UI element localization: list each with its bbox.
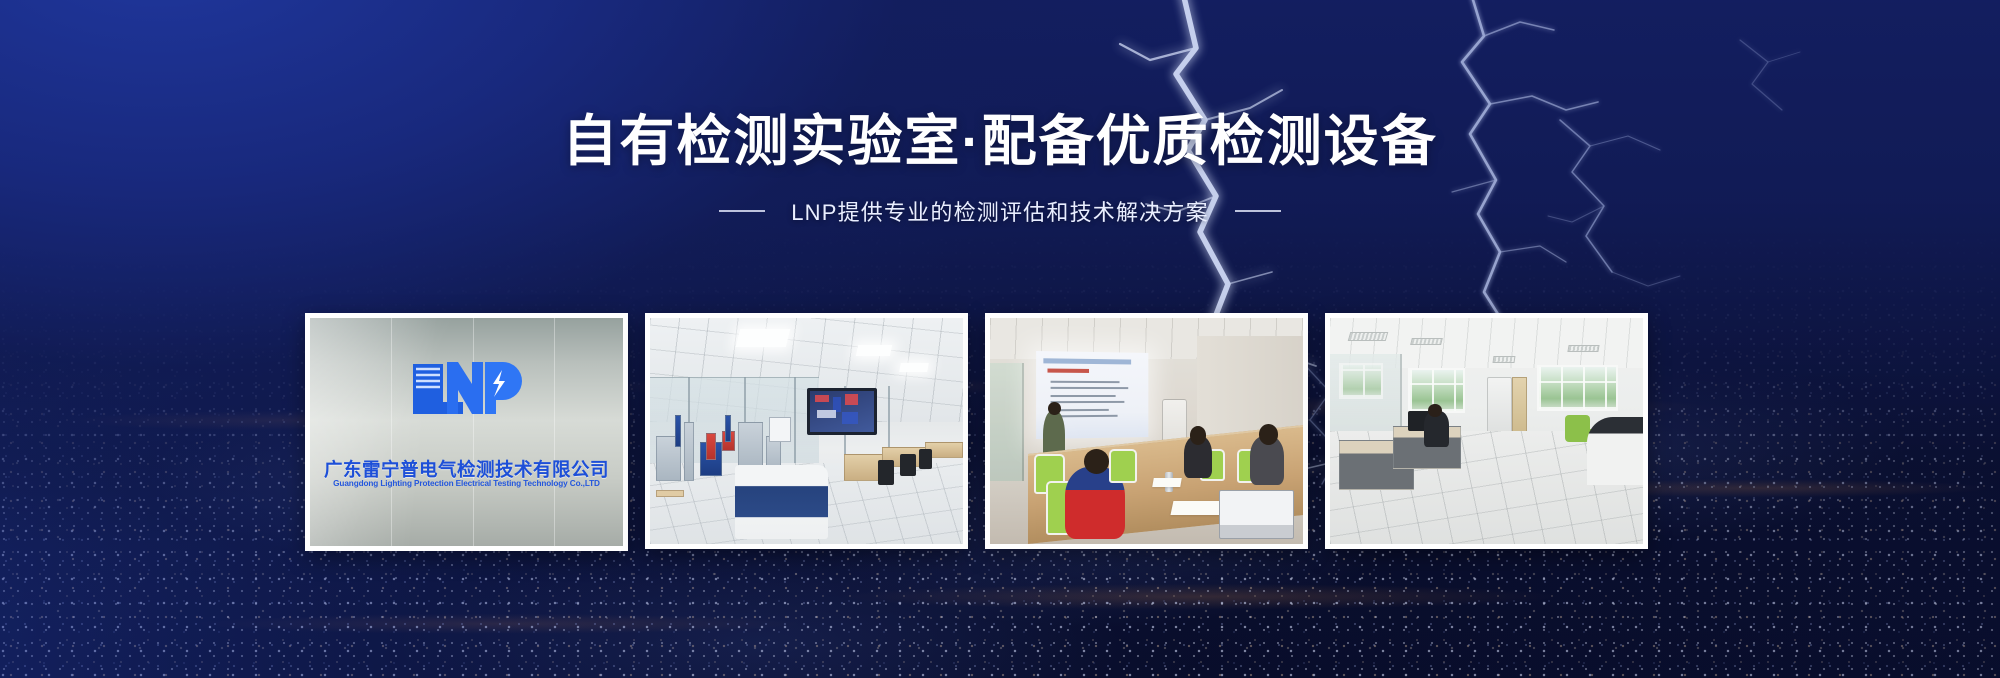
subtitle-row: LNP提供专业的检测评估和技术解决方案 (719, 195, 1281, 227)
attendee-head (1084, 449, 1109, 474)
frosted-glass-door (990, 363, 1024, 481)
sign-company-name-en: Guangdong Lighting Protection Electrical… (333, 479, 600, 488)
attendee-head (1259, 424, 1278, 444)
reception-counter (1587, 417, 1643, 485)
photo-meeting-room (990, 318, 1303, 544)
office-window (1339, 363, 1383, 399)
ceiling-vent (1347, 332, 1387, 341)
meeting-chair (1109, 449, 1137, 483)
gallery-item-meeting-room[interactable] (985, 313, 1308, 549)
laptop (1219, 490, 1294, 540)
photo-office-area (1330, 318, 1643, 544)
photo-company-signage: 广东雷宁普电气检测技术有限公司 Guangdong Lighting Prote… (310, 318, 623, 546)
test-rig (675, 415, 681, 447)
ceiling-vent (1567, 345, 1599, 352)
page-title: 自有检测实验室·配备优质检测设备 (562, 112, 1437, 171)
office-chair (878, 460, 894, 485)
attendee-head (1190, 426, 1206, 444)
office-chair (919, 449, 932, 469)
glass-seam (554, 318, 555, 546)
presenter-head (1048, 402, 1061, 416)
rule-right-icon (1235, 210, 1281, 212)
console-screen (769, 417, 791, 442)
test-rig (706, 433, 715, 460)
ceiling-light (735, 329, 790, 347)
wall-monitor (807, 388, 877, 435)
office-window (1537, 365, 1618, 410)
photo-testing-laboratory (650, 318, 963, 544)
ceiling-light (855, 345, 892, 356)
glass-seam (473, 318, 474, 546)
gallery-item-office-area[interactable] (1325, 313, 1648, 549)
test-rig (684, 422, 693, 481)
test-rig (725, 415, 731, 442)
lnp-logo-icon (407, 354, 527, 418)
document-paper (1170, 501, 1223, 515)
gallery-item-company-signage[interactable]: 广东雷宁普电气检测技术有限公司 Guangdong Lighting Prote… (305, 313, 628, 551)
control-console (735, 465, 829, 540)
document-paper (1152, 478, 1182, 487)
glass-seam (391, 318, 392, 546)
ceiling-vent (1492, 356, 1515, 363)
glass-glare (310, 318, 553, 546)
rule-left-icon (719, 210, 765, 212)
work-desk (656, 490, 684, 497)
ceiling-light (900, 363, 930, 372)
gallery-item-testing-laboratory[interactable] (645, 313, 968, 549)
ceiling-vent (1411, 338, 1444, 345)
hero-banner: 自有检测实验室·配备优质检测设备 LNP提供专业的检测评估和技术解决方案 (0, 0, 2000, 678)
page-subtitle: LNP提供专业的检测评估和技术解决方案 (791, 195, 1209, 227)
office-chair (900, 454, 916, 477)
photo-gallery: 广东雷宁普电气检测技术有限公司 Guangdong Lighting Prote… (305, 313, 1648, 551)
